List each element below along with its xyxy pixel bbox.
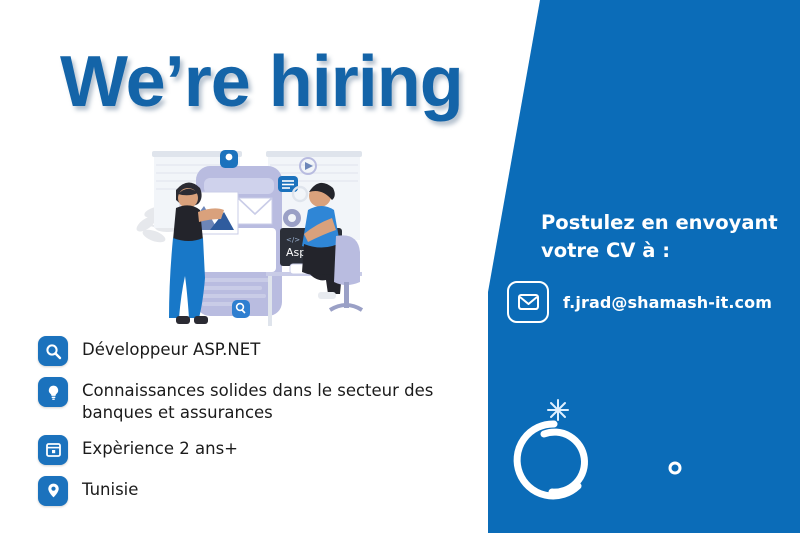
location-pin-icon: [38, 476, 68, 506]
sparkle-icon: [548, 400, 568, 420]
list-item: Expèrience 2 ans+: [38, 435, 438, 465]
search-badge-icon: [232, 300, 250, 318]
envelope-icon: [507, 281, 549, 323]
email-address[interactable]: f.jrad@shamash-it.com: [563, 293, 772, 312]
lightbulb-icon: [38, 377, 68, 407]
requirement-text: Connaissances solides dans le secteur de…: [82, 377, 438, 424]
wordmark-dot-accent: [670, 463, 680, 473]
code-glyph: </>: [286, 236, 300, 244]
shamash-s-mark-icon: [492, 398, 792, 518]
requirement-text: Développeur ASP.NET: [82, 336, 260, 361]
envelope-graphic-icon: [238, 198, 272, 224]
list-item: Connaissances solides dans le secteur de…: [38, 377, 438, 424]
requirements-list: Développeur ASP.NET Connaissances solide…: [38, 336, 438, 517]
calendar-icon: [38, 435, 68, 465]
company-logo: hamash Information Technology: [492, 398, 792, 518]
gear-icon: [283, 209, 301, 227]
illustration-svg: </> Asp.net: [132, 132, 382, 330]
list-item: Tunisie: [38, 476, 438, 506]
apply-heading: Postulez en envoyant votre CV à :: [541, 209, 791, 264]
requirement-text: Expèrience 2 ans+: [82, 435, 238, 460]
hiring-poster: We’re hiring: [0, 0, 800, 533]
email-row[interactable]: f.jrad@shamash-it.com: [507, 281, 772, 323]
illustration: </> Asp.net: [132, 132, 382, 330]
list-item: Développeur ASP.NET: [38, 336, 438, 366]
page-title: We’re hiring: [60, 46, 463, 118]
requirement-text: Tunisie: [82, 476, 138, 501]
magnifier-icon: [38, 336, 68, 366]
